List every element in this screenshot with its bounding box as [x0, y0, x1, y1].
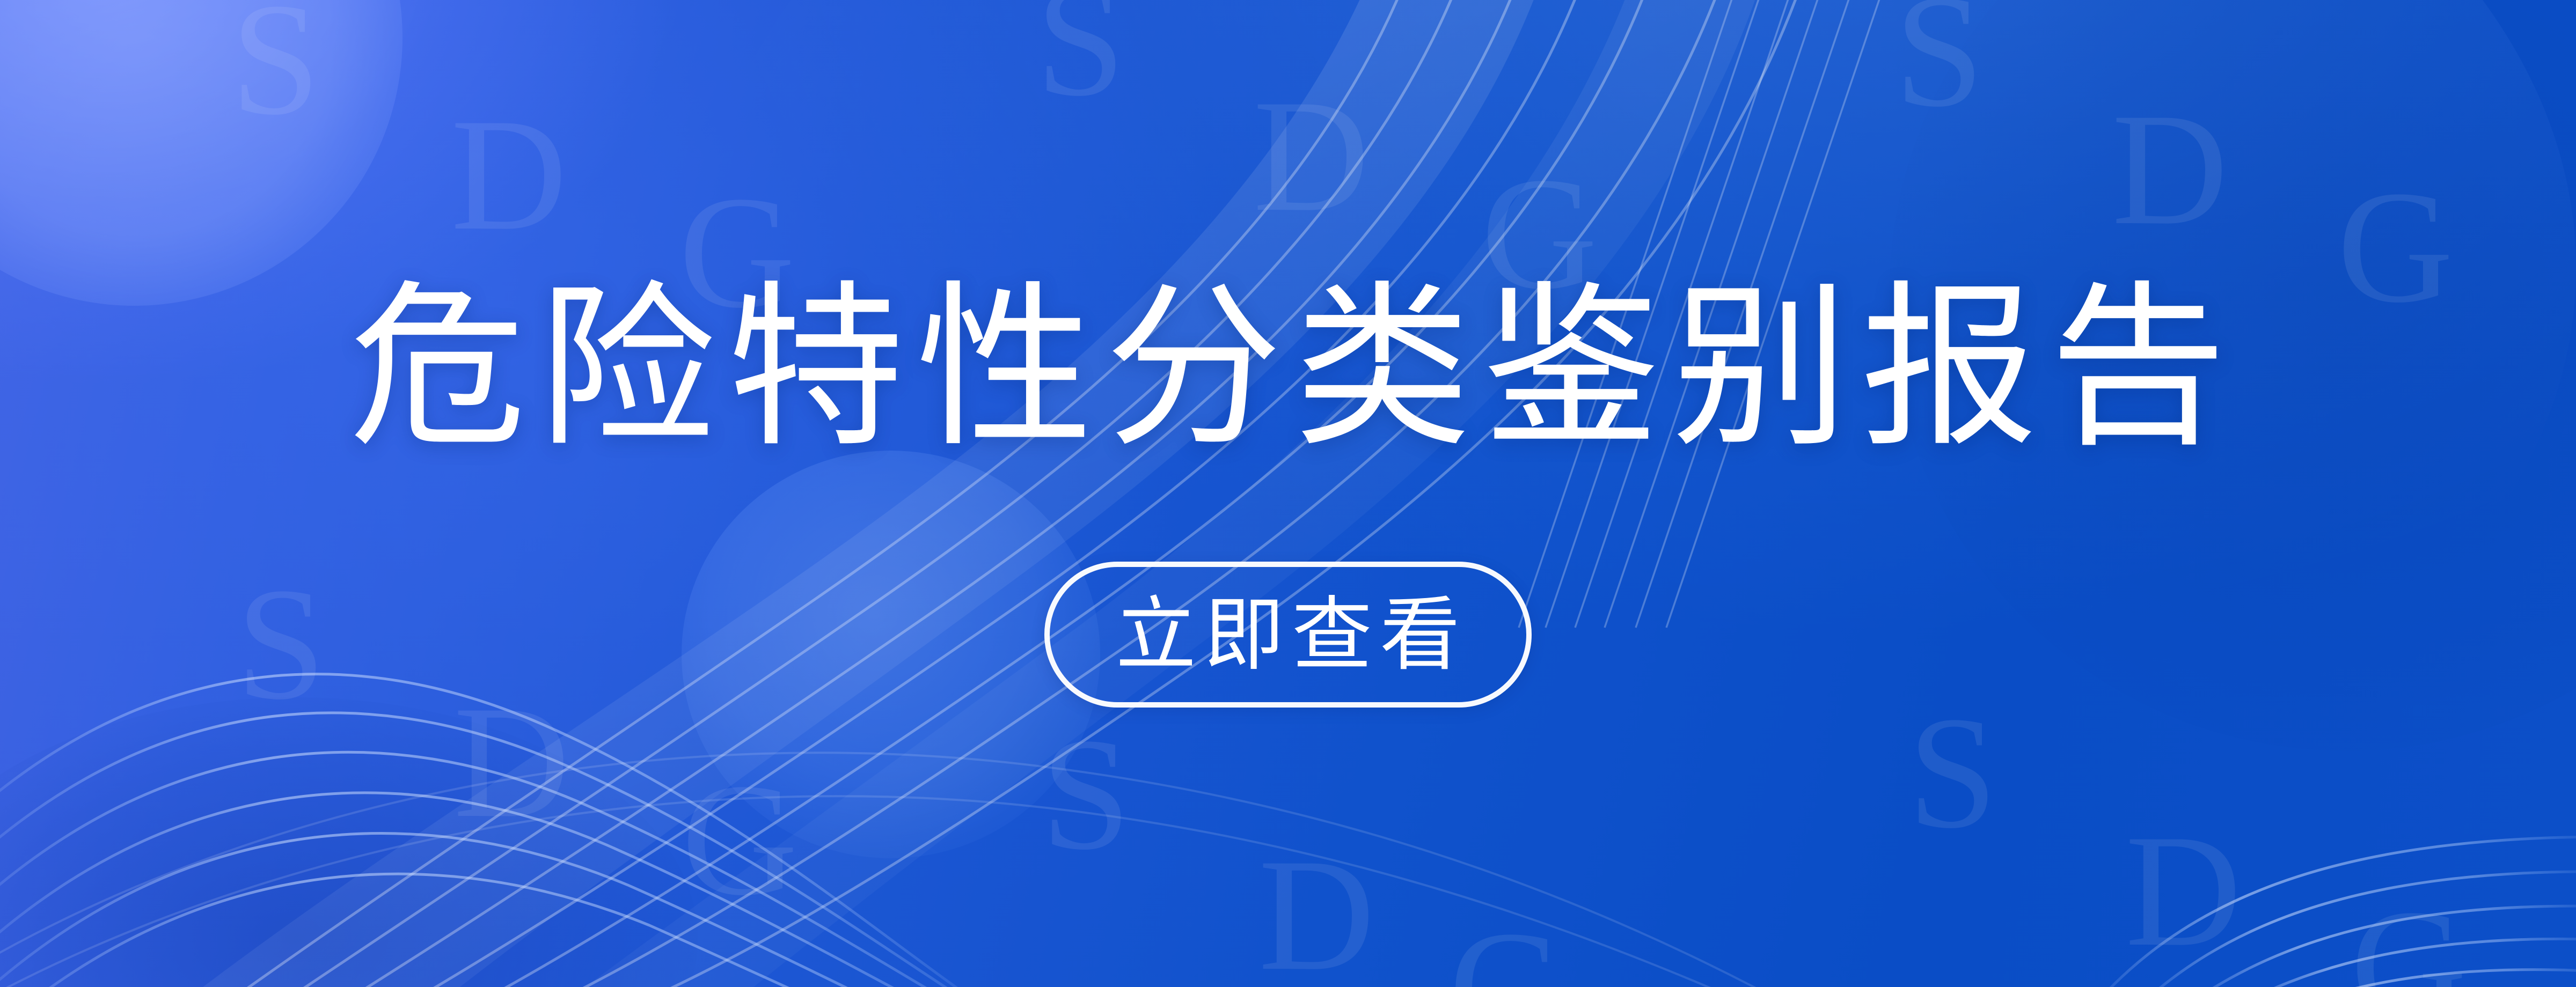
view-now-button-label: 立即查看	[1108, 594, 1468, 675]
banner-content: 危险特性分类鉴别报告 立即查看	[0, 0, 2576, 987]
view-now-button[interactable]: 立即查看	[1044, 562, 1532, 708]
promo-banner: S D G S D G S D G S D G S D G S D G 危险特性…	[0, 0, 2576, 987]
page-title: 危险特性分类鉴别报告	[338, 279, 2238, 456]
